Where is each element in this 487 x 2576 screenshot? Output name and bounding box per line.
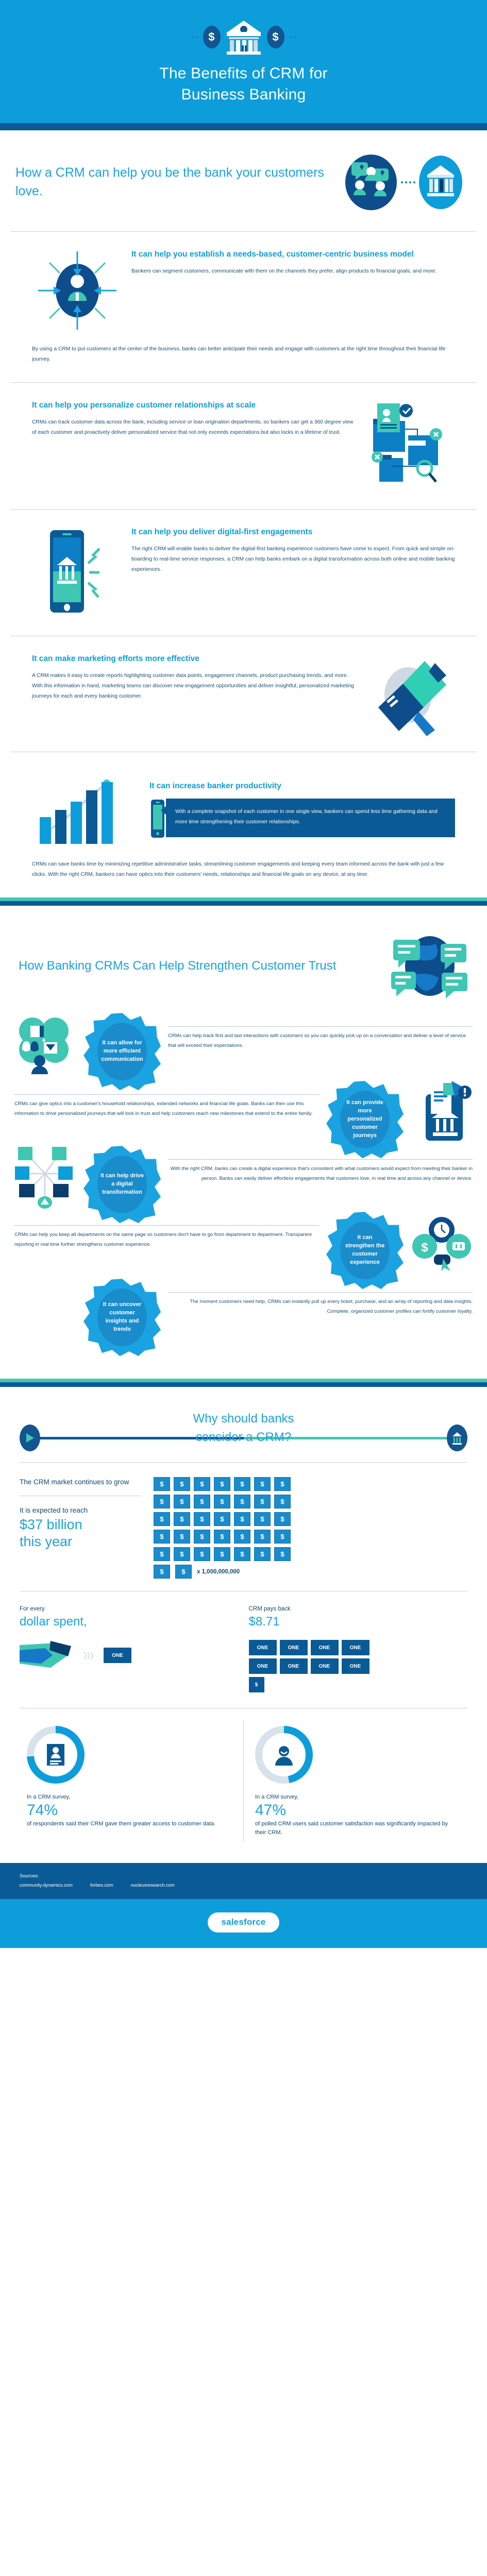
roi-right-label: CRM pays back — [249, 1605, 468, 1614]
dollar-bill-icon: $ — [174, 1512, 190, 1526]
benefit-5-illustration — [32, 770, 140, 847]
trust-item-4-callout: CRMs can help you keep all departments o… — [14, 1212, 319, 1249]
hand-giving-bill-icon — [20, 1641, 77, 1670]
why-headline: Why should banks consider a CRM? — [172, 1410, 314, 1447]
clock-money-icon: $ — [411, 1214, 472, 1271]
bar-chart-growth-icon — [35, 770, 138, 847]
left-dots-icon — [192, 36, 198, 38]
brand-footer: salesforce — [0, 1899, 487, 1948]
trust-item-5-detail: The moment customers need help, CRMs can… — [168, 1297, 473, 1316]
trust-item-4-detail: CRMs can help you keep all departments o… — [14, 1230, 319, 1249]
trust-item-4-label: It can strengthen the customer experienc… — [340, 1234, 390, 1267]
benefit-5-heading: It can increase banker productivity — [149, 781, 455, 791]
dollar-bill-icon: $ — [154, 1512, 170, 1526]
one-dollar-bill-icon: ONE — [342, 1658, 370, 1674]
dollar-bill-icon: $ — [154, 1477, 170, 1491]
benefit-4-body: A CRM makes it easy to create reports hi… — [32, 671, 356, 701]
source-link-2[interactable]: forbes.com — [90, 1883, 113, 1888]
source-link-1[interactable]: community.dynamics.com — [20, 1883, 73, 1888]
partial-dollar-bill-icon: $ — [249, 1677, 264, 1692]
page-title-line2: Business Banking — [0, 84, 487, 105]
survey-2-intro: In a CRM survey, — [255, 1793, 460, 1802]
mobile-documents-icon — [411, 1080, 472, 1144]
dollar-bill-icon: $ — [254, 1495, 271, 1509]
trust-wheel-area: It can allow for more efficient communic… — [0, 1010, 487, 1379]
benefit-1-body: Bankers can segment customers, communica… — [131, 266, 455, 277]
dollar-bill-icon: $ — [154, 1530, 170, 1544]
leader-line — [168, 1159, 473, 1160]
survey-1-percent: 74% — [27, 1802, 232, 1820]
trust-gear-2[interactable]: It can provide more personalized custome… — [326, 1081, 404, 1158]
benefit-1-footer: By using a CRM to put customers at the c… — [21, 337, 466, 382]
survey-1-donut — [27, 1726, 85, 1784]
gear-hub: It can help drive a digital transformati… — [97, 1156, 147, 1213]
benefit-2-illustration — [365, 400, 455, 490]
bank-circle-icon — [418, 154, 463, 211]
benefit-section-1: It can help you establish a needs-based,… — [0, 232, 487, 382]
benefit-2-heading: It can help you personalize customer rel… — [32, 400, 356, 411]
survey-1-intro: In a CRM survey, — [27, 1793, 232, 1802]
leader-line — [168, 1292, 473, 1293]
money-multiplier-row: $ $ x 1,000,000,000 — [154, 1565, 467, 1579]
trust-headline: How Banking CRMs Can Help Strengthen Cus… — [19, 957, 391, 975]
one-dollar-bill-icon: ONE — [311, 1640, 339, 1655]
dollar-bill-icon: $ — [154, 1495, 170, 1509]
market-lead: The CRM market continues to grow — [20, 1477, 141, 1487]
dollar-bill-icon: $ — [234, 1512, 250, 1526]
benefit-section-2: It can help you personalize customer rel… — [0, 383, 487, 509]
dollar-bill-icon: $ — [214, 1477, 230, 1491]
dollar-bill-icon: $ — [214, 1547, 230, 1561]
trust-item-5-art — [14, 1279, 76, 1341]
trust-item-1-detail: CRMs can help track first and last inter… — [168, 1031, 473, 1050]
chat-bubbles-globe-icon — [391, 927, 468, 1005]
benefit-5-footer: CRMs can save banks time by minimizing r… — [21, 852, 466, 897]
roi-left-value: dollar spent, — [20, 1615, 239, 1630]
roi-left-label: For every — [20, 1605, 239, 1614]
intro-illustration — [335, 154, 472, 211]
benefit-3-illustration — [32, 527, 122, 617]
trust-item-1-art — [14, 1013, 76, 1075]
dollar-bill-icon: $ — [274, 1477, 291, 1491]
intro-section: How a CRM can help you be the bank your … — [0, 130, 487, 231]
dollar-bill-icon: $ — [274, 1512, 291, 1526]
dollar-bill-icon: $ — [214, 1495, 230, 1509]
one-dollar-bill-icon: ONE — [280, 1658, 308, 1674]
folders-records-icon — [369, 400, 451, 490]
dollar-bill-icon: $ — [194, 1477, 210, 1491]
multiplier-label: x 1,000,000,000 — [197, 1569, 240, 1575]
dollar-bill-icon: $ — [254, 1512, 271, 1526]
sources-bar: Sources: community.dynamics.com forbes.c… — [0, 1863, 487, 1899]
roi-right: CRM pays back $8.71 ONE ONE ONE ONE ONE … — [249, 1605, 468, 1692]
trust-item-2-label: It can provide more personalized custome… — [340, 1099, 390, 1140]
trust-item-3-art — [14, 1146, 76, 1208]
trust-item-1: It can allow for more efficient communic… — [14, 1013, 473, 1090]
trust-item-2-callout: CRMs can give optics into a customer's h… — [14, 1081, 319, 1118]
leader-line — [168, 1026, 473, 1027]
roi-block: For every dollar spent, 〉〉〉 ONE CRM pays… — [0, 1591, 487, 1708]
chevrons-icon: 〉〉〉 — [83, 1650, 97, 1661]
hero-bottom-band — [0, 123, 487, 130]
trust-navy-band — [0, 901, 487, 906]
coin-right-icon: $ — [267, 26, 284, 48]
source-link-3[interactable]: nucleusresearch.com — [130, 1883, 175, 1888]
person-document-icon — [43, 1742, 69, 1768]
trust-item-5-label: It can uncover customer insights and tre… — [97, 1301, 147, 1334]
survey-2: In a CRM survey, 47% of polled CRM users… — [243, 1721, 472, 1842]
why-header: Why should banks consider a CRM? — [0, 1387, 487, 1462]
market-expect-label: It is expected to reach — [20, 1505, 141, 1516]
coin-left-icon: $ — [203, 26, 221, 48]
dollar-bill-icon: $ — [234, 1495, 250, 1509]
dollar-bill-icon: $ — [194, 1495, 210, 1509]
bank-building-icon — [226, 19, 262, 56]
dollar-bill-icon: $ — [274, 1530, 291, 1544]
mobile-bank-icon — [39, 527, 116, 617]
page-title: The Benefits of CRM for Business Banking — [0, 63, 487, 106]
one-dollar-bill-icon: ONE — [104, 1648, 131, 1663]
dollar-bill-icon: $ — [254, 1477, 271, 1491]
survey-2-donut-center — [262, 1733, 306, 1776]
dollar-bill-icon: $ — [274, 1547, 291, 1561]
trust-item-3-callout: With the right CRM, banks can create a d… — [168, 1146, 473, 1183]
survey-1-detail: of respondents said their CRM gave them … — [27, 1820, 232, 1828]
hero-icon-row: $ $ — [0, 14, 487, 60]
gear-hub: It can strengthen the customer experienc… — [340, 1222, 390, 1279]
sources-label: Sources: — [20, 1873, 467, 1879]
phone-small-icon — [149, 799, 166, 839]
dollar-bill-icon: $ — [174, 1477, 190, 1491]
one-dollar-bill-icon: ONE — [311, 1658, 339, 1674]
sources-list: community.dynamics.com forbes.com nucleu… — [20, 1883, 467, 1888]
dollar-bill-icon: $ — [194, 1547, 210, 1561]
network-nodes-icon — [15, 1145, 76, 1209]
trust-item-2-detail: CRMs can give optics into a customer's h… — [14, 1099, 319, 1118]
survey-1: In a CRM survey, 74% of respondents said… — [15, 1721, 243, 1842]
why-teal-band — [0, 1379, 487, 1382]
trust-item-2-art — [411, 1081, 473, 1143]
page-title-line1: The Benefits of CRM for — [0, 63, 487, 84]
people-group-icon — [344, 154, 398, 211]
connector-dots-icon — [401, 181, 415, 183]
roi-right-value: $8.71 — [249, 1615, 468, 1630]
leader-line — [14, 1225, 319, 1226]
dollar-bill-icon: $ — [174, 1547, 190, 1561]
why-headline-line1: Why should banks — [193, 1412, 294, 1426]
hero-header: $ $ The — [0, 0, 487, 123]
one-dollar-bill-icon: ONE — [249, 1658, 277, 1674]
trust-item-3-label: It can help drive a digital transformati… — [97, 1172, 147, 1197]
play-knob-icon — [20, 1425, 40, 1451]
benefit-2-body: CRMs can track customer data across the … — [32, 417, 356, 438]
target-person-icon — [36, 249, 119, 332]
survey-2-percent: 47% — [255, 1802, 460, 1820]
trust-item-5-callout: The moment customers need help, CRMs can… — [168, 1279, 473, 1316]
benefit-4-heading: It can make marketing efforts more effec… — [32, 654, 356, 664]
market-inner-divider — [20, 1496, 141, 1496]
survey-1-donut-center — [34, 1733, 77, 1776]
market-amount: $37 billion — [20, 1516, 141, 1534]
dollar-bill-icon: $ — [154, 1565, 170, 1579]
benefit-1-heading: It can help you establish a needs-based,… — [131, 249, 455, 260]
benefit-section-3: It can help you deliver digital-first en… — [0, 510, 487, 636]
benefit-1-illustration — [32, 249, 122, 332]
one-dollar-bill-icon: ONE — [249, 1640, 277, 1655]
trust-gear-3[interactable]: It can help drive a digital transformati… — [83, 1146, 161, 1223]
trust-item-4: $ It can strengthen the customer experie… — [14, 1212, 473, 1289]
trust-item-1-callout: CRMs can help track first and last inter… — [168, 1013, 473, 1050]
salesforce-logo[interactable]: salesforce — [208, 1912, 279, 1933]
roi-left: For every dollar spent, 〉〉〉 ONE — [20, 1605, 239, 1692]
gear-hub: It can provide more personalized custome… — [340, 1091, 390, 1148]
trust-teal-band — [0, 897, 487, 901]
person-smile-icon — [271, 1742, 297, 1768]
dollar-bill-icon: $ — [174, 1530, 190, 1544]
why-navy-band — [0, 1382, 487, 1387]
dollar-bill-icon: $ — [234, 1477, 250, 1491]
survey-section: In a CRM survey, 74% of respondents said… — [0, 1708, 487, 1863]
infographic-page: $ $ The — [0, 0, 487, 1948]
benefit-section-5: It can increase banker productivity With… — [0, 752, 487, 897]
gear-hub: It can uncover customer insights and tre… — [97, 1289, 147, 1346]
trust-header: How Banking CRMs Can Help Strengthen Cus… — [0, 906, 487, 1010]
dollar-bill-icon: $ — [234, 1530, 250, 1544]
trust-gear-4[interactable]: It can strengthen the customer experienc… — [326, 1212, 404, 1289]
money-grid: $$$$$$$ $$$$$$$ $$$$$$$ $$$$$$$ $$$$$$$ — [154, 1477, 467, 1561]
market-stat-block: The CRM market continues to grow It is e… — [0, 1463, 487, 1591]
bank-knob-icon — [447, 1425, 467, 1451]
trust-item-4-art: $ — [411, 1212, 473, 1274]
survey-2-donut — [255, 1726, 313, 1784]
one-dollar-bill-icon: ONE — [342, 1640, 370, 1655]
thumbs-up-person-icon — [15, 1013, 76, 1074]
trust-item-5: It can uncover customer insights and tre… — [14, 1279, 473, 1356]
trust-gear-1[interactable]: It can allow for more efficient communic… — [83, 1013, 161, 1090]
megaphone-plug-icon — [369, 654, 451, 736]
why-headline-line2: consider a CRM? — [196, 1430, 291, 1444]
benefit-4-illustration — [365, 654, 455, 736]
benefit-5-body: With a complete snapshot of each custome… — [175, 807, 446, 828]
dollar-bill-icon: $ — [154, 1547, 170, 1561]
benefit-3-heading: It can help you deliver digital-first en… — [131, 527, 455, 537]
benefit-3-body: The right CRM will enable banks to deliv… — [131, 544, 455, 574]
dollar-bill-icon: $ — [234, 1547, 250, 1561]
dollar-bill-icon: $ — [274, 1495, 291, 1509]
dollar-bill-icon: $ — [174, 1495, 190, 1509]
gear-hub: It can allow for more efficient communic… — [97, 1023, 147, 1080]
leader-line — [14, 1094, 319, 1095]
benefit-section-4: It can make marketing efforts more effec… — [0, 636, 487, 752]
dollar-bill-icon: $ — [214, 1530, 230, 1544]
trust-gear-5[interactable]: It can uncover customer insights and tre… — [83, 1279, 161, 1356]
one-dollar-bill-icon: ONE — [280, 1640, 308, 1655]
intro-headline: How a CRM can help you be the bank your … — [15, 164, 330, 200]
market-period: this year — [20, 1533, 141, 1551]
trust-item-3-detail: With the right CRM, banks can create a d… — [168, 1164, 473, 1183]
survey-2-detail: of polled CRM users said customer satisf… — [255, 1820, 460, 1837]
dollar-bill-icon: $ — [194, 1512, 210, 1526]
dollar-bill-icon: $ — [214, 1512, 230, 1526]
trust-item-1-label: It can allow for more efficient communic… — [97, 1039, 147, 1064]
dollar-bill-icon: $ — [254, 1547, 271, 1561]
svg-text:$: $ — [421, 1241, 428, 1255]
dollar-bill-icon: $ — [194, 1530, 210, 1544]
dollar-bill-icon: $ — [175, 1565, 192, 1579]
dollar-bill-icon: $ — [254, 1530, 271, 1544]
right-dots-icon — [290, 36, 296, 38]
